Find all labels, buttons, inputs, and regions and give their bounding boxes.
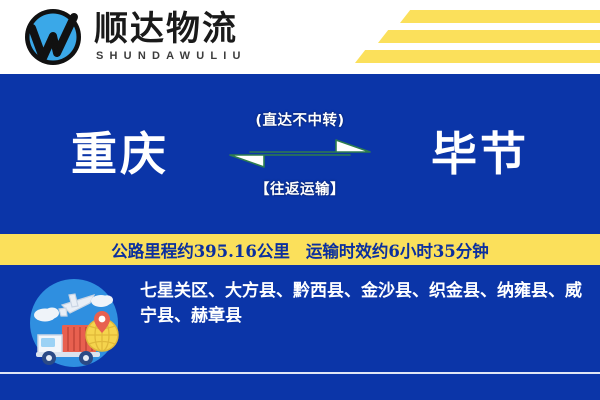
route-arrow-block: (直达不中转) 【往返运输】: [215, 99, 385, 209]
brand-text: 顺达物流 SHUNDAWULIU: [94, 12, 247, 63]
duration-text: 运输时效约6小时35分钟: [306, 242, 489, 261]
destination-city: 毕节: [385, 131, 575, 177]
route-row: 重庆 (直达不中转) 【往返运输】 毕节: [0, 74, 600, 234]
distance-text: 公路里程约395.16公里: [111, 242, 290, 261]
route-info-text: 公路里程约395.16公里运输时效约6小时35分钟: [111, 238, 489, 262]
districts-text: 七星关区、大方县、黔西县、金沙县、织金县、纳雍县、威宁县、赫章县: [140, 279, 585, 328]
direct-service-label: (直达不中转): [255, 109, 344, 130]
logistics-truck-globe-plane-icon: [22, 275, 127, 370]
stripe-3: [355, 50, 600, 63]
swoosh-circle-logo-icon: [22, 6, 84, 68]
bottom-divider: [0, 372, 600, 374]
stripe-1: [400, 10, 600, 23]
round-trip-label: 【往返运输】: [255, 178, 345, 199]
bidirectional-arrow-icon: [224, 136, 376, 170]
coverage-panel: 七星关区、大方县、黔西县、金沙县、织金县、纳雍县、威宁县、赫章县: [0, 265, 600, 400]
route-panel: 重庆 (直达不中转) 【往返运输】 毕节: [0, 74, 600, 234]
logistics-route-poster: 顺达物流 SHUNDAWULIU 重庆 (直达不中转): [0, 0, 600, 400]
brand-name-en: SHUNDAWULIU: [96, 50, 247, 62]
header: 顺达物流 SHUNDAWULIU: [0, 0, 600, 74]
origin-city: 重庆: [25, 131, 215, 177]
coverage-districts: 七星关区、大方县、黔西县、金沙县、织金县、纳雍县、威宁县、赫章县: [140, 279, 585, 328]
route-info-bar: 公路里程约395.16公里运输时效约6小时35分钟: [0, 234, 600, 265]
brand-name-cn: 顺达物流: [94, 12, 247, 48]
stripe-2: [378, 30, 600, 43]
decorative-stripes: [350, 0, 600, 74]
brand-lockup: 顺达物流 SHUNDAWULIU: [22, 6, 247, 68]
